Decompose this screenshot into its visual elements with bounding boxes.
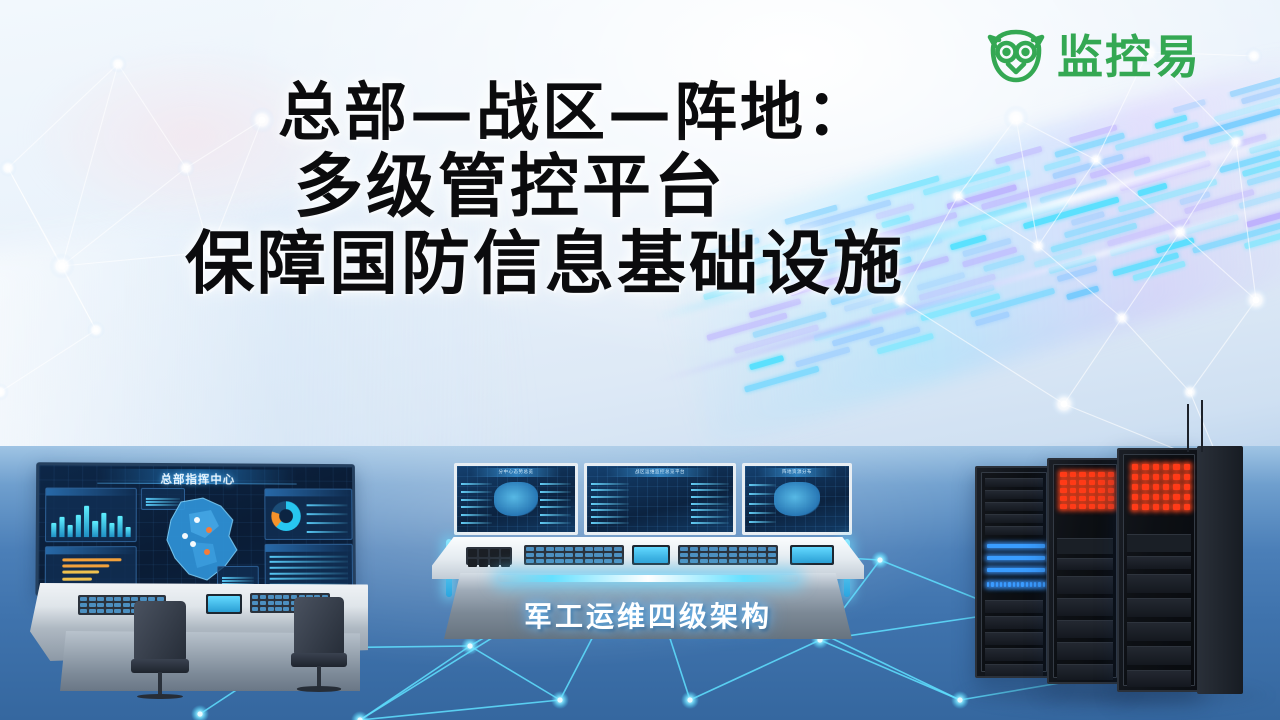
server-rack-group	[965, 400, 1265, 700]
bar-chart	[51, 503, 131, 537]
center-monitor: 战区运维监控总览平台	[584, 463, 736, 535]
panel-header	[265, 489, 351, 496]
videowall-title: 总部指挥中心	[160, 471, 235, 487]
brand-name: 监控易	[1057, 34, 1201, 80]
panel-header	[46, 489, 136, 496]
console-monitor-small[interactable]	[206, 594, 242, 614]
panel-header	[266, 545, 352, 552]
rack-blue-port-row	[987, 582, 1045, 587]
console-keyboard-right[interactable]	[678, 545, 778, 565]
rack-antenna-1	[1187, 404, 1189, 452]
table-rows	[270, 554, 349, 588]
rack-red-front	[1117, 448, 1201, 692]
page-title: 总部—战区—阵地： 多级管控平台 保障国防信息基础设施	[0, 78, 1100, 303]
console-led-strip	[498, 575, 798, 582]
operator-chair-2	[294, 597, 344, 701]
right-monitor: 阵地资源分布	[742, 463, 852, 535]
operator-chair-1	[134, 601, 186, 709]
console-center-display[interactable]	[632, 545, 670, 565]
left-monitor: 分中心态势总览	[454, 463, 578, 535]
rack-side-panel	[1197, 446, 1243, 694]
rack-red-front-led-grid	[1132, 464, 1190, 510]
rack-blue-led-bar-3	[987, 568, 1045, 572]
donut-panel	[264, 488, 352, 540]
console-caption: 军工运维四级架构	[432, 595, 864, 635]
bar-chart-panel	[45, 488, 137, 543]
rack-blue	[975, 466, 1053, 678]
title-line-3: 保障国防信息基础设施	[0, 226, 1100, 303]
right-monitor-header: 阵地资源分布	[757, 468, 836, 477]
rack-antenna-2	[1201, 400, 1203, 452]
donut-legend	[307, 500, 348, 536]
slide-canvas: 监控易 总部—战区—阵地： 多级管控平台 保障国防信息基础设施 总部指挥中心	[0, 0, 1280, 720]
rack-blue-led-bar-1	[987, 544, 1045, 548]
center-monitor-header: 战区运维监控总览平台	[605, 468, 716, 477]
console-trackpad[interactable]	[466, 547, 512, 565]
rack-red-mid-led-grid	[1060, 472, 1114, 509]
command-center-scene: 总部指挥中心	[22, 455, 370, 720]
donut-chart	[271, 501, 301, 531]
rack-red-mid	[1047, 458, 1123, 684]
console-right-display[interactable]	[790, 545, 834, 565]
command-center-videowall: 总部指挥中心	[35, 462, 356, 596]
panel-header	[46, 547, 136, 554]
left-monitor-header: 分中心态势总览	[471, 468, 561, 477]
title-line-1: 总部—战区—阵地：	[0, 78, 1100, 149]
rack-blue-led-bar-2	[987, 556, 1045, 560]
console-keyboard-left[interactable]	[524, 545, 624, 565]
title-line-2: 多级管控平台	[0, 149, 1100, 226]
center-console-scene: 分中心态势总览 战区运维监控总览平台 阵地资源分布	[432, 455, 864, 675]
